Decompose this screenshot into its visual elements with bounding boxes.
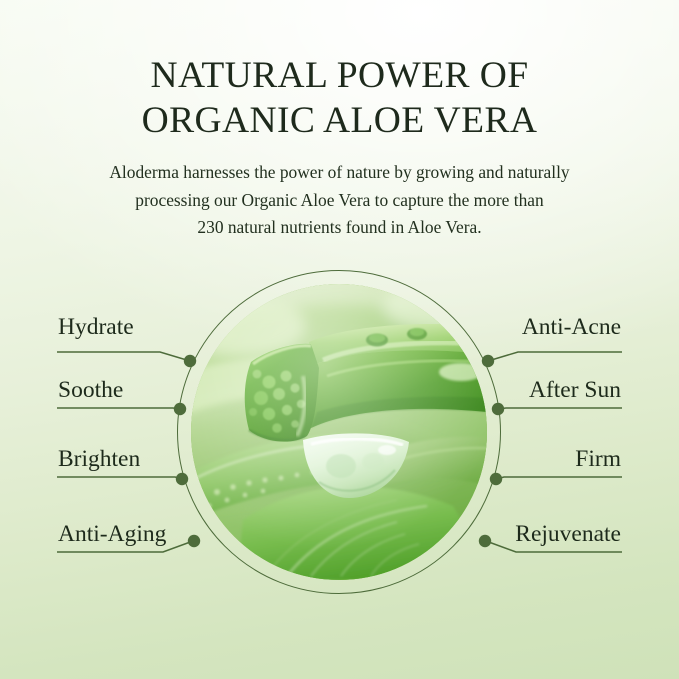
benefit-label-brighten[interactable]: Brighten xyxy=(58,446,140,472)
connector-dot-anti-aging xyxy=(188,535,200,547)
benefit-label-hydrate[interactable]: Hydrate xyxy=(58,314,134,340)
connector-line-hydrate xyxy=(57,352,190,361)
benefit-label-anti-acne[interactable]: Anti-Acne xyxy=(522,314,621,340)
benefit-label-soothe[interactable]: Soothe xyxy=(58,377,123,403)
connector-line-soothe xyxy=(57,408,181,409)
benefit-label-after-sun[interactable]: After Sun xyxy=(529,377,621,403)
connector-dot-rejuvenate xyxy=(479,535,491,547)
connector-line-after-sun xyxy=(498,408,622,409)
connector-line-firm xyxy=(496,477,622,479)
connector-line-brighten xyxy=(57,477,183,479)
center-circle-zone: Hydrate Soothe Brighten Anti-Aging Anti-… xyxy=(0,0,679,679)
benefit-label-anti-aging[interactable]: Anti-Aging xyxy=(58,521,166,547)
connector-line-anti-acne xyxy=(488,352,622,361)
benefit-label-rejuvenate[interactable]: Rejuvenate xyxy=(515,521,621,547)
aloe-vera-infographic: NATURAL POWER OF ORGANIC ALOE VERA Alode… xyxy=(0,0,679,679)
aloe-vera-photo xyxy=(191,284,487,580)
benefit-label-firm[interactable]: Firm xyxy=(575,446,621,472)
